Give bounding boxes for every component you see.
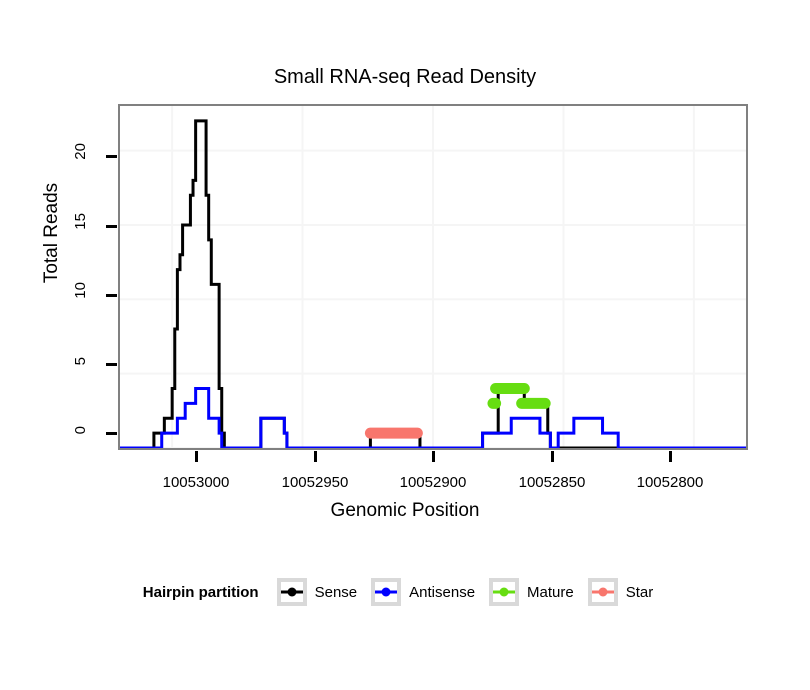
- chart-figure: Small RNA-seq Read Density Total Reads 0…: [0, 0, 810, 690]
- legend-item-star[interactable]: Star: [588, 578, 654, 606]
- y-tick-label-5: 5: [72, 357, 89, 365]
- y-tick-label-0: 0: [72, 426, 89, 434]
- plot-area: [120, 106, 746, 448]
- legend-label-sense: Sense: [315, 584, 358, 601]
- x-tick-10052800: [669, 451, 672, 462]
- y-tick-label-20: 20: [72, 143, 89, 160]
- y-axis-title: Total Reads: [41, 133, 63, 333]
- x-tick-label-10052850: 10052850: [492, 474, 612, 491]
- x-tick-label-10052800: 10052800: [610, 474, 730, 491]
- line-point-icon: [281, 583, 303, 601]
- x-tick-10052850: [551, 451, 554, 462]
- x-tick-label-10052900: 10052900: [373, 474, 493, 491]
- x-axis-title: Genomic Position: [0, 500, 810, 522]
- plot-svg: [120, 106, 746, 448]
- legend-label-mature: Mature: [527, 584, 574, 601]
- legend-key-star: [588, 578, 618, 606]
- legend-item-sense[interactable]: Sense: [277, 578, 358, 606]
- plot-panel: [118, 104, 748, 450]
- y-tick-label-15: 15: [72, 213, 89, 230]
- x-tick-10052900: [432, 451, 435, 462]
- y-tick-20: [106, 155, 117, 158]
- line-point-icon: [493, 583, 515, 601]
- x-tick-label-10052950: 10052950: [255, 474, 375, 491]
- legend-item-mature[interactable]: Mature: [489, 578, 574, 606]
- chart-legend: Hairpin partition Sense Antisense: [0, 578, 810, 606]
- y-tick-label-10: 10: [72, 282, 89, 299]
- y-tick-0: [106, 432, 117, 435]
- legend-key-mature: [489, 578, 519, 606]
- y-tick-15: [106, 225, 117, 228]
- x-tick-10052950: [314, 451, 317, 462]
- y-tick-5: [106, 363, 117, 366]
- x-tick-10053000: [195, 451, 198, 462]
- line-point-icon: [592, 583, 614, 601]
- legend-key-sense: [277, 578, 307, 606]
- legend-key-antisense: [371, 578, 401, 606]
- legend-title: Hairpin partition: [143, 584, 259, 601]
- x-tick-label-10053000: 10053000: [136, 474, 256, 491]
- legend-item-antisense[interactable]: Antisense: [371, 578, 475, 606]
- chart-title: Small RNA-seq Read Density: [0, 66, 810, 89]
- legend-label-antisense: Antisense: [409, 584, 475, 601]
- legend-label-star: Star: [626, 584, 654, 601]
- y-tick-10: [106, 294, 117, 297]
- line-point-icon: [375, 583, 397, 601]
